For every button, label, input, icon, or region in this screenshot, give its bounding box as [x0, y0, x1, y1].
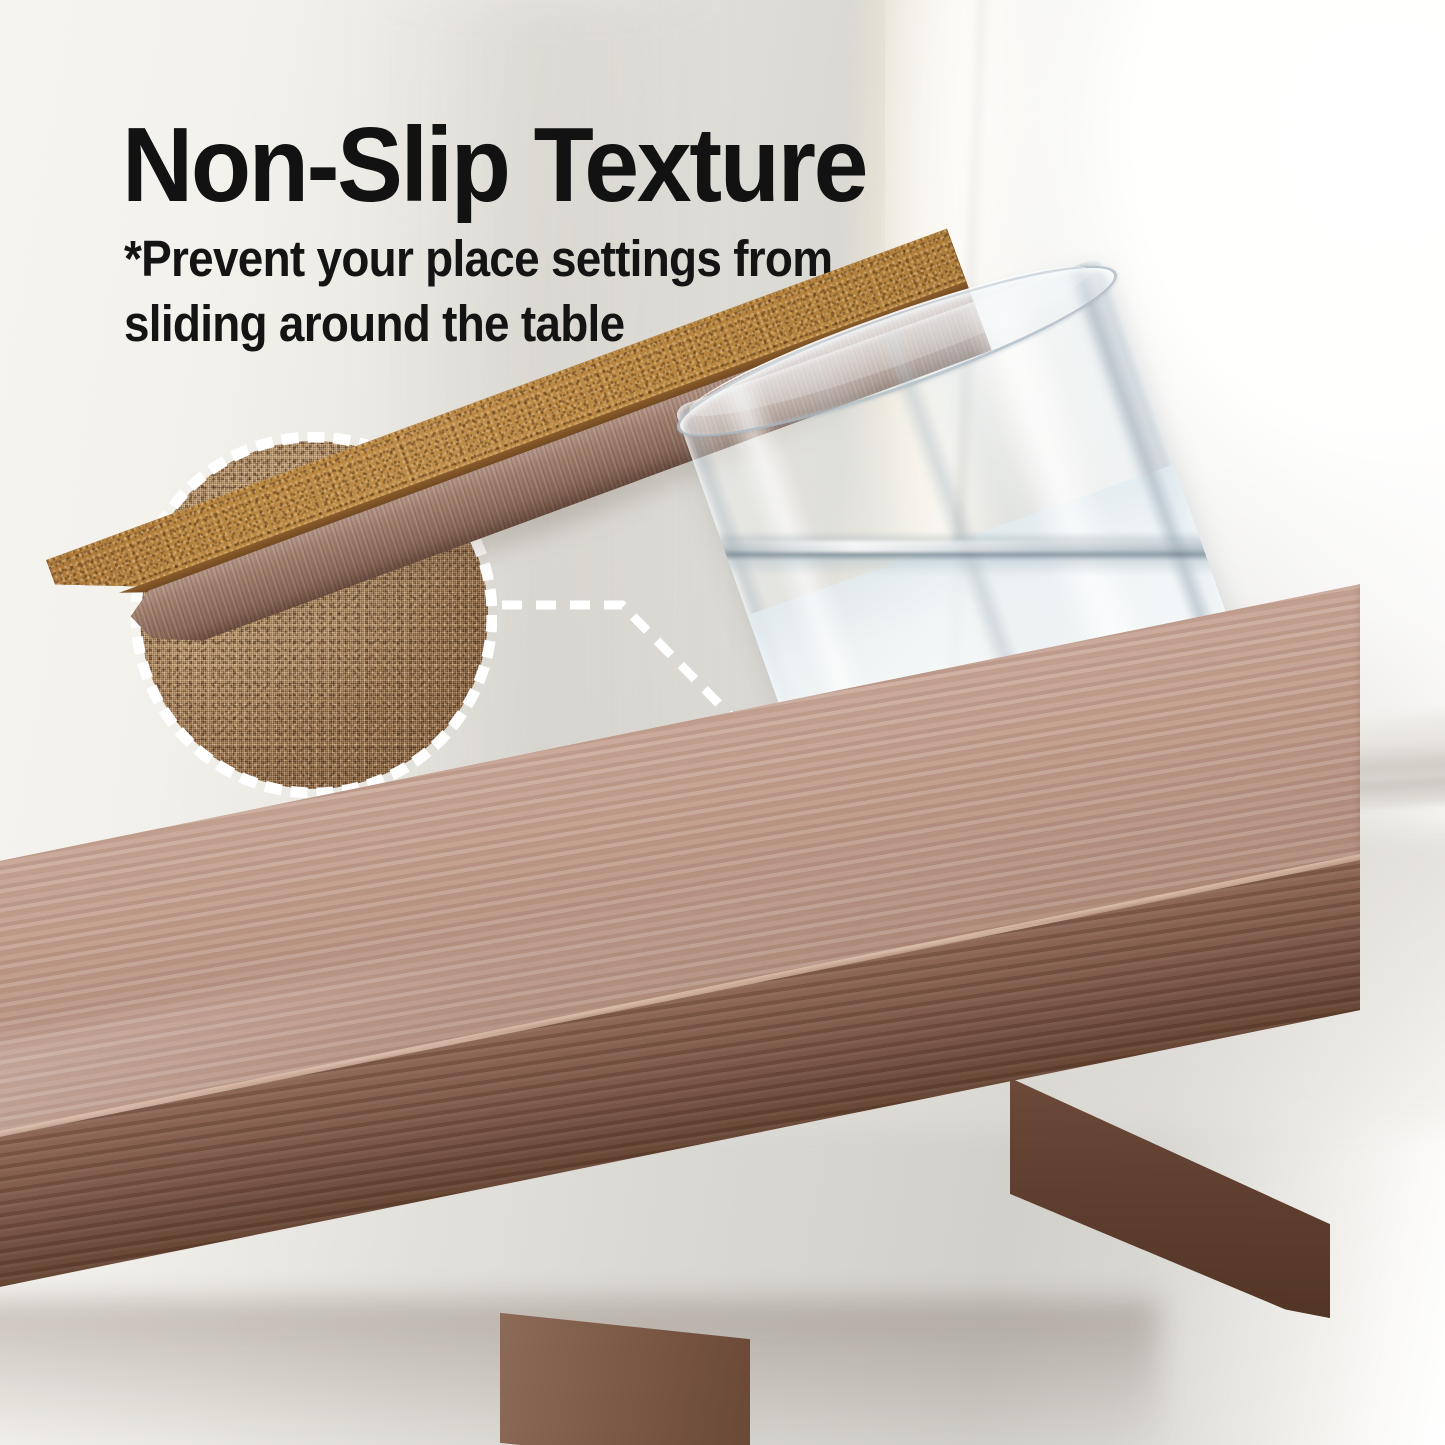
water-surface-sheen	[698, 540, 1258, 552]
product-feature-image: Non-Slip Texture *Prevent your place set…	[0, 0, 1445, 1445]
page-title: Non-Slip Texture	[122, 112, 866, 218]
water-surface-line	[674, 532, 1270, 576]
